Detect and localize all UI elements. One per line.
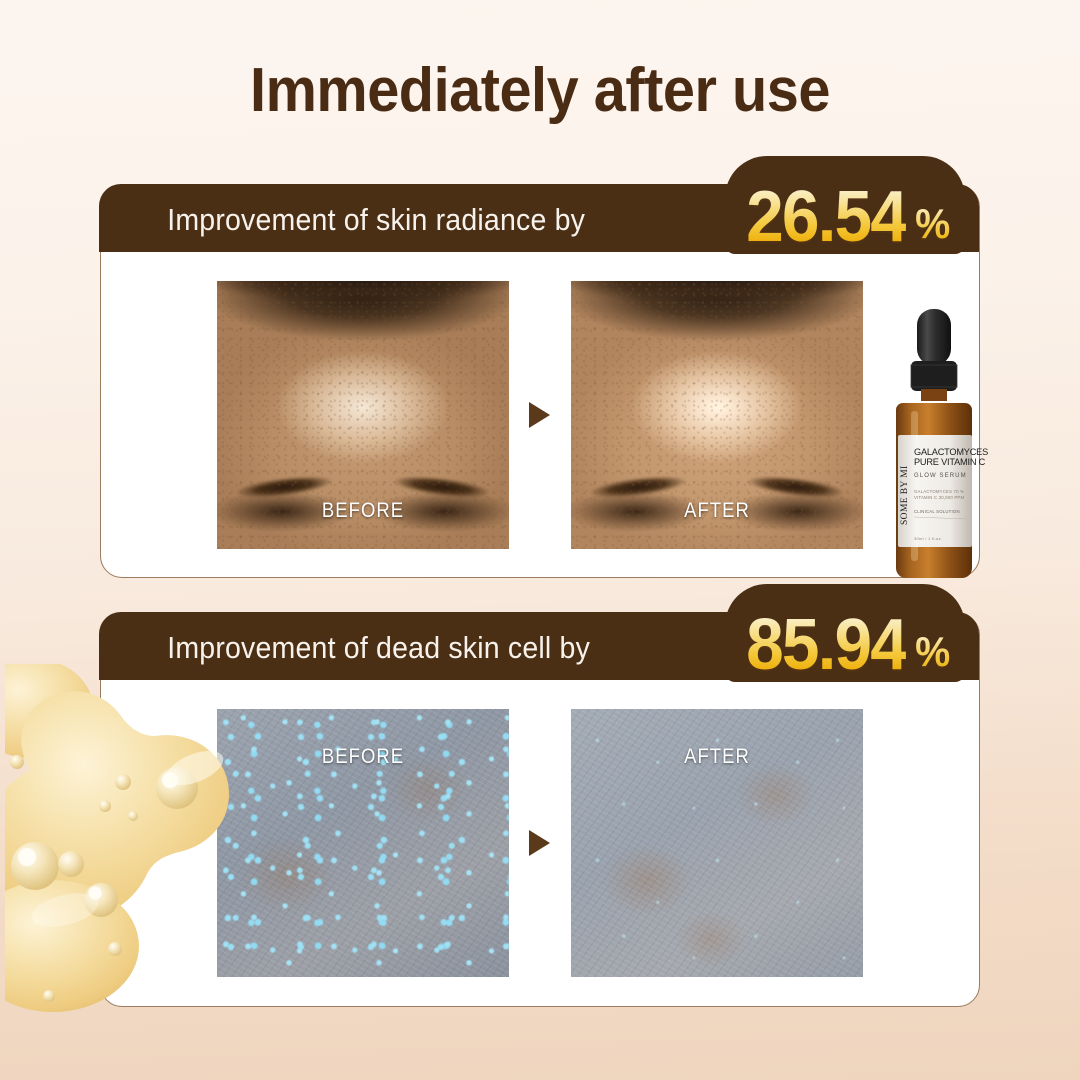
before-label: BEFORE: [234, 499, 491, 523]
before-image-panel: BEFORE: [217, 281, 509, 549]
pearl-bubble: [10, 755, 24, 769]
droplet-small: [5, 664, 93, 758]
hairline-shadow: [217, 281, 509, 315]
before-after-comparison: BEFORE AFTER: [101, 682, 978, 1004]
percent-symbol: %: [915, 203, 950, 245]
percent-badge: 26.54 %: [741, 152, 951, 254]
pearl-highlight: [89, 887, 102, 900]
before-after-comparison: BEFORE AFTER: [101, 254, 978, 576]
bottle-neck: [921, 389, 947, 401]
pearl-bubble: [58, 851, 84, 877]
label-spec-line1: GALACTOMYCES 70 %: [914, 489, 964, 494]
label-volume: 30ml / 1 fl.oz.: [914, 536, 942, 541]
after-label: AFTER: [588, 499, 845, 523]
after-image-panel: AFTER: [571, 709, 863, 977]
label-brand: SOME BY MI: [900, 465, 910, 525]
label-spec-line2: VITAMIN C 30,000 PPM: [914, 495, 964, 500]
percent-value: 85.94: [747, 612, 907, 678]
page-title: Immediately after use: [38, 58, 1042, 123]
product-bottle-image: SOME BY MI GALACTOMYCES PURE VITAMIN C G…: [881, 307, 989, 585]
dropper-collar: [911, 361, 957, 391]
label-claim-heading: CLINICAL SOLUTION: [914, 509, 960, 514]
triangle-right-icon: [529, 830, 550, 856]
result-card-skin-radiance: Improvement of skin radiance by 26.54 % …: [100, 185, 980, 578]
triangle-right-icon: [529, 402, 550, 428]
percent-badge: 85.94 %: [741, 580, 951, 682]
before-image-panel: BEFORE: [217, 709, 509, 977]
label-name-line2: PURE VITAMIN C: [914, 457, 986, 467]
label-name-line1: GALACTOMYCES: [914, 447, 988, 457]
result-card-dead-skin-cell: Improvement of dead skin cell by 85.94 %…: [100, 613, 980, 1007]
pearl-highlight: [18, 848, 36, 866]
after-label: AFTER: [588, 745, 845, 769]
comparison-arrow: [509, 709, 571, 977]
pearl-bubble: [11, 842, 59, 890]
comparison-arrow: [509, 281, 571, 549]
hairline-shadow: [571, 281, 863, 315]
dropper-bulb: [917, 309, 951, 365]
label-subtitle: GLOW SERUM: [914, 473, 967, 479]
percent-symbol: %: [915, 631, 950, 673]
droplet-sheen: [28, 887, 101, 933]
after-image-panel: AFTER: [571, 281, 863, 549]
percent-value: 26.54: [747, 184, 907, 250]
pearl-bubble: [43, 990, 55, 1002]
before-label: BEFORE: [234, 745, 491, 769]
